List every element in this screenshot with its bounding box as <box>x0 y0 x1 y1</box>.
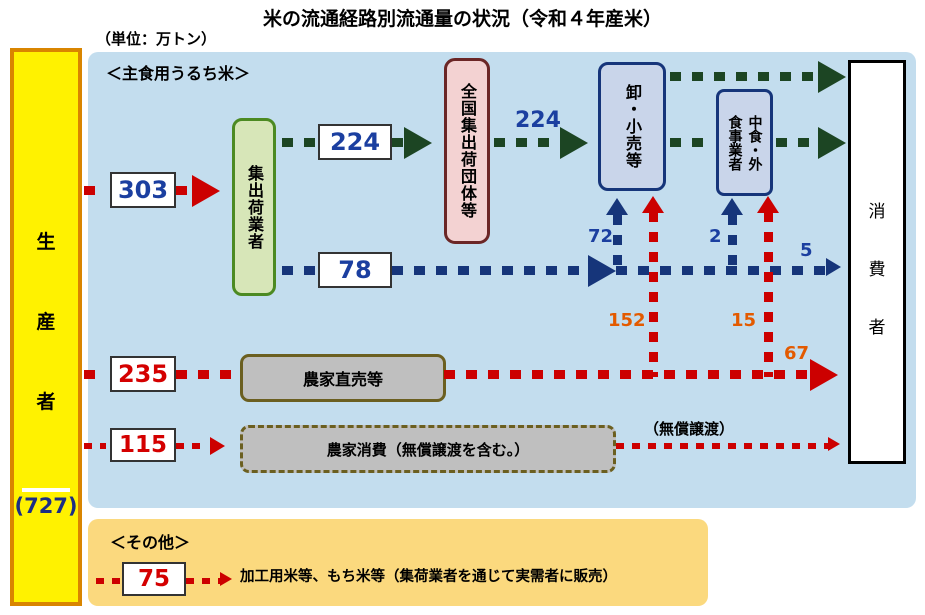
node-shukka-gyosha-label: 集出荷業者 <box>242 165 266 250</box>
node-oroshi-kouri: 卸・小売等 <box>598 62 666 191</box>
flow-line-oroshi-to-nakashoku <box>670 138 714 147</box>
flow-value-2: 2 <box>709 226 722 247</box>
flow-line-75-b <box>186 578 220 584</box>
node-oroshi-kouri-label: 卸・小売等 <box>620 84 644 169</box>
node-nouka-chokubai: 農家直売等 <box>240 354 446 402</box>
flow-value-115: 115 <box>110 428 176 462</box>
flow-line-224b <box>494 138 560 147</box>
flow-arrow-blue-to-consumer <box>826 258 841 276</box>
flow-line-72 <box>613 215 622 270</box>
node-nakashoku-gaishoku: 食事業者 中食・外 <box>716 89 773 196</box>
flow-line-75-a <box>96 578 120 584</box>
flow-arrow-oroshi-to-consumer <box>818 61 846 93</box>
flow-value-224-to-oroshi: 224 <box>515 108 561 133</box>
consumer-box: 消 費 者 <box>848 60 906 464</box>
consumer-char-3: 者 <box>851 299 903 357</box>
flow-value-152: 152 <box>608 310 646 331</box>
consumer-char-1: 消 <box>851 183 903 241</box>
flow-value-78: 78 <box>318 252 392 288</box>
node-zenkoku-shukka-dantai-label: 全国集出荷団体等 <box>455 83 479 219</box>
flow-value-5: 5 <box>800 240 813 261</box>
flow-value-75: 75 <box>122 562 186 596</box>
consumer-label: 消 費 者 <box>851 183 903 357</box>
flow-value-15: 15 <box>731 310 756 331</box>
flow-line-303-b <box>176 186 190 195</box>
flow-arrow-67 <box>810 359 838 391</box>
flow-line-78-a <box>282 266 316 275</box>
flow-arrow-303 <box>192 175 220 207</box>
other-panel-label: ＜その他＞ <box>110 529 190 553</box>
flow-line-15 <box>764 212 773 377</box>
flow-arrow-115 <box>210 437 225 455</box>
flow-arrow-78 <box>588 255 616 287</box>
flow-line-2 <box>728 215 737 270</box>
unit-note: （単位：万トン） <box>96 28 216 49</box>
producer-char-1: 生 <box>14 202 78 282</box>
node-zenkoku-shukka-dantai: 全国集出荷団体等 <box>444 58 490 244</box>
flow-line-152 <box>649 212 658 377</box>
flow-line-115-b <box>176 443 208 449</box>
flow-value-303: 303 <box>110 172 176 208</box>
flow-arrow-72 <box>606 198 628 215</box>
flow-value-72: 72 <box>588 226 613 247</box>
flow-line-115-a <box>84 443 106 449</box>
mushou-joto-note: （無償譲渡） <box>644 418 734 439</box>
producer-label: 生 産 者 <box>14 202 78 442</box>
flow-arrow-152 <box>642 196 664 213</box>
consumer-char-2: 費 <box>851 241 903 299</box>
flow-line-235-b <box>176 370 240 379</box>
producer-char-2: 産 <box>14 282 78 362</box>
flow-value-235: 235 <box>110 356 176 392</box>
producer-total: (727) <box>14 494 78 518</box>
flow-arrow-15 <box>757 196 779 213</box>
producer-divider <box>22 488 70 492</box>
flow-line-224a-b <box>392 138 404 147</box>
page-title: 米の流通経路別流通量の状況（令和４年産米） <box>0 4 925 31</box>
flow-line-mushou <box>616 443 828 449</box>
flow-line-303-a <box>84 186 106 195</box>
producer-box: 生 産 者 (727) <box>10 48 82 606</box>
flow-line-blue-to-consumer <box>616 266 826 275</box>
flow-arrow-2 <box>721 198 743 215</box>
flow-arrow-mushou <box>828 437 840 451</box>
flow-value-224-to-zenkoku: 224 <box>318 124 392 160</box>
flow-line-red-to-consumer <box>444 370 810 379</box>
node-nouka-shohi: 農家消費（無償譲渡を含む。） <box>240 425 616 473</box>
node-nakashoku-col-1: 中食・外 <box>745 115 765 171</box>
diagram-canvas: 米の流通経路別流通量の状況（令和４年産米） （単位：万トン） ＜主食用うるち米＞… <box>0 0 925 615</box>
flow-line-oroshi-to-consumer <box>670 72 818 81</box>
producer-char-3: 者 <box>14 362 78 442</box>
flow-line-224a-a <box>282 138 316 147</box>
flow-line-78-b <box>392 266 588 275</box>
main-panel-label: ＜主食用うるち米＞ <box>106 60 250 84</box>
flow-line-235-a <box>84 370 106 379</box>
flow-arrow-75 <box>220 572 232 586</box>
flow-arrow-224-to-oroshi <box>560 127 588 159</box>
other-panel-text: 加工用米等、もち米等（集荷業者を通じて実需者に販売） <box>240 565 617 586</box>
flow-line-nakashoku-to-consumer <box>776 138 818 147</box>
flow-arrow-224-to-zenkoku <box>404 127 432 159</box>
flow-value-67: 67 <box>784 343 809 364</box>
node-nakashoku-col-2: 食事業者 <box>725 115 745 171</box>
flow-arrow-nakashoku-to-consumer <box>818 127 846 159</box>
node-shukka-gyosha: 集出荷業者 <box>232 118 276 296</box>
